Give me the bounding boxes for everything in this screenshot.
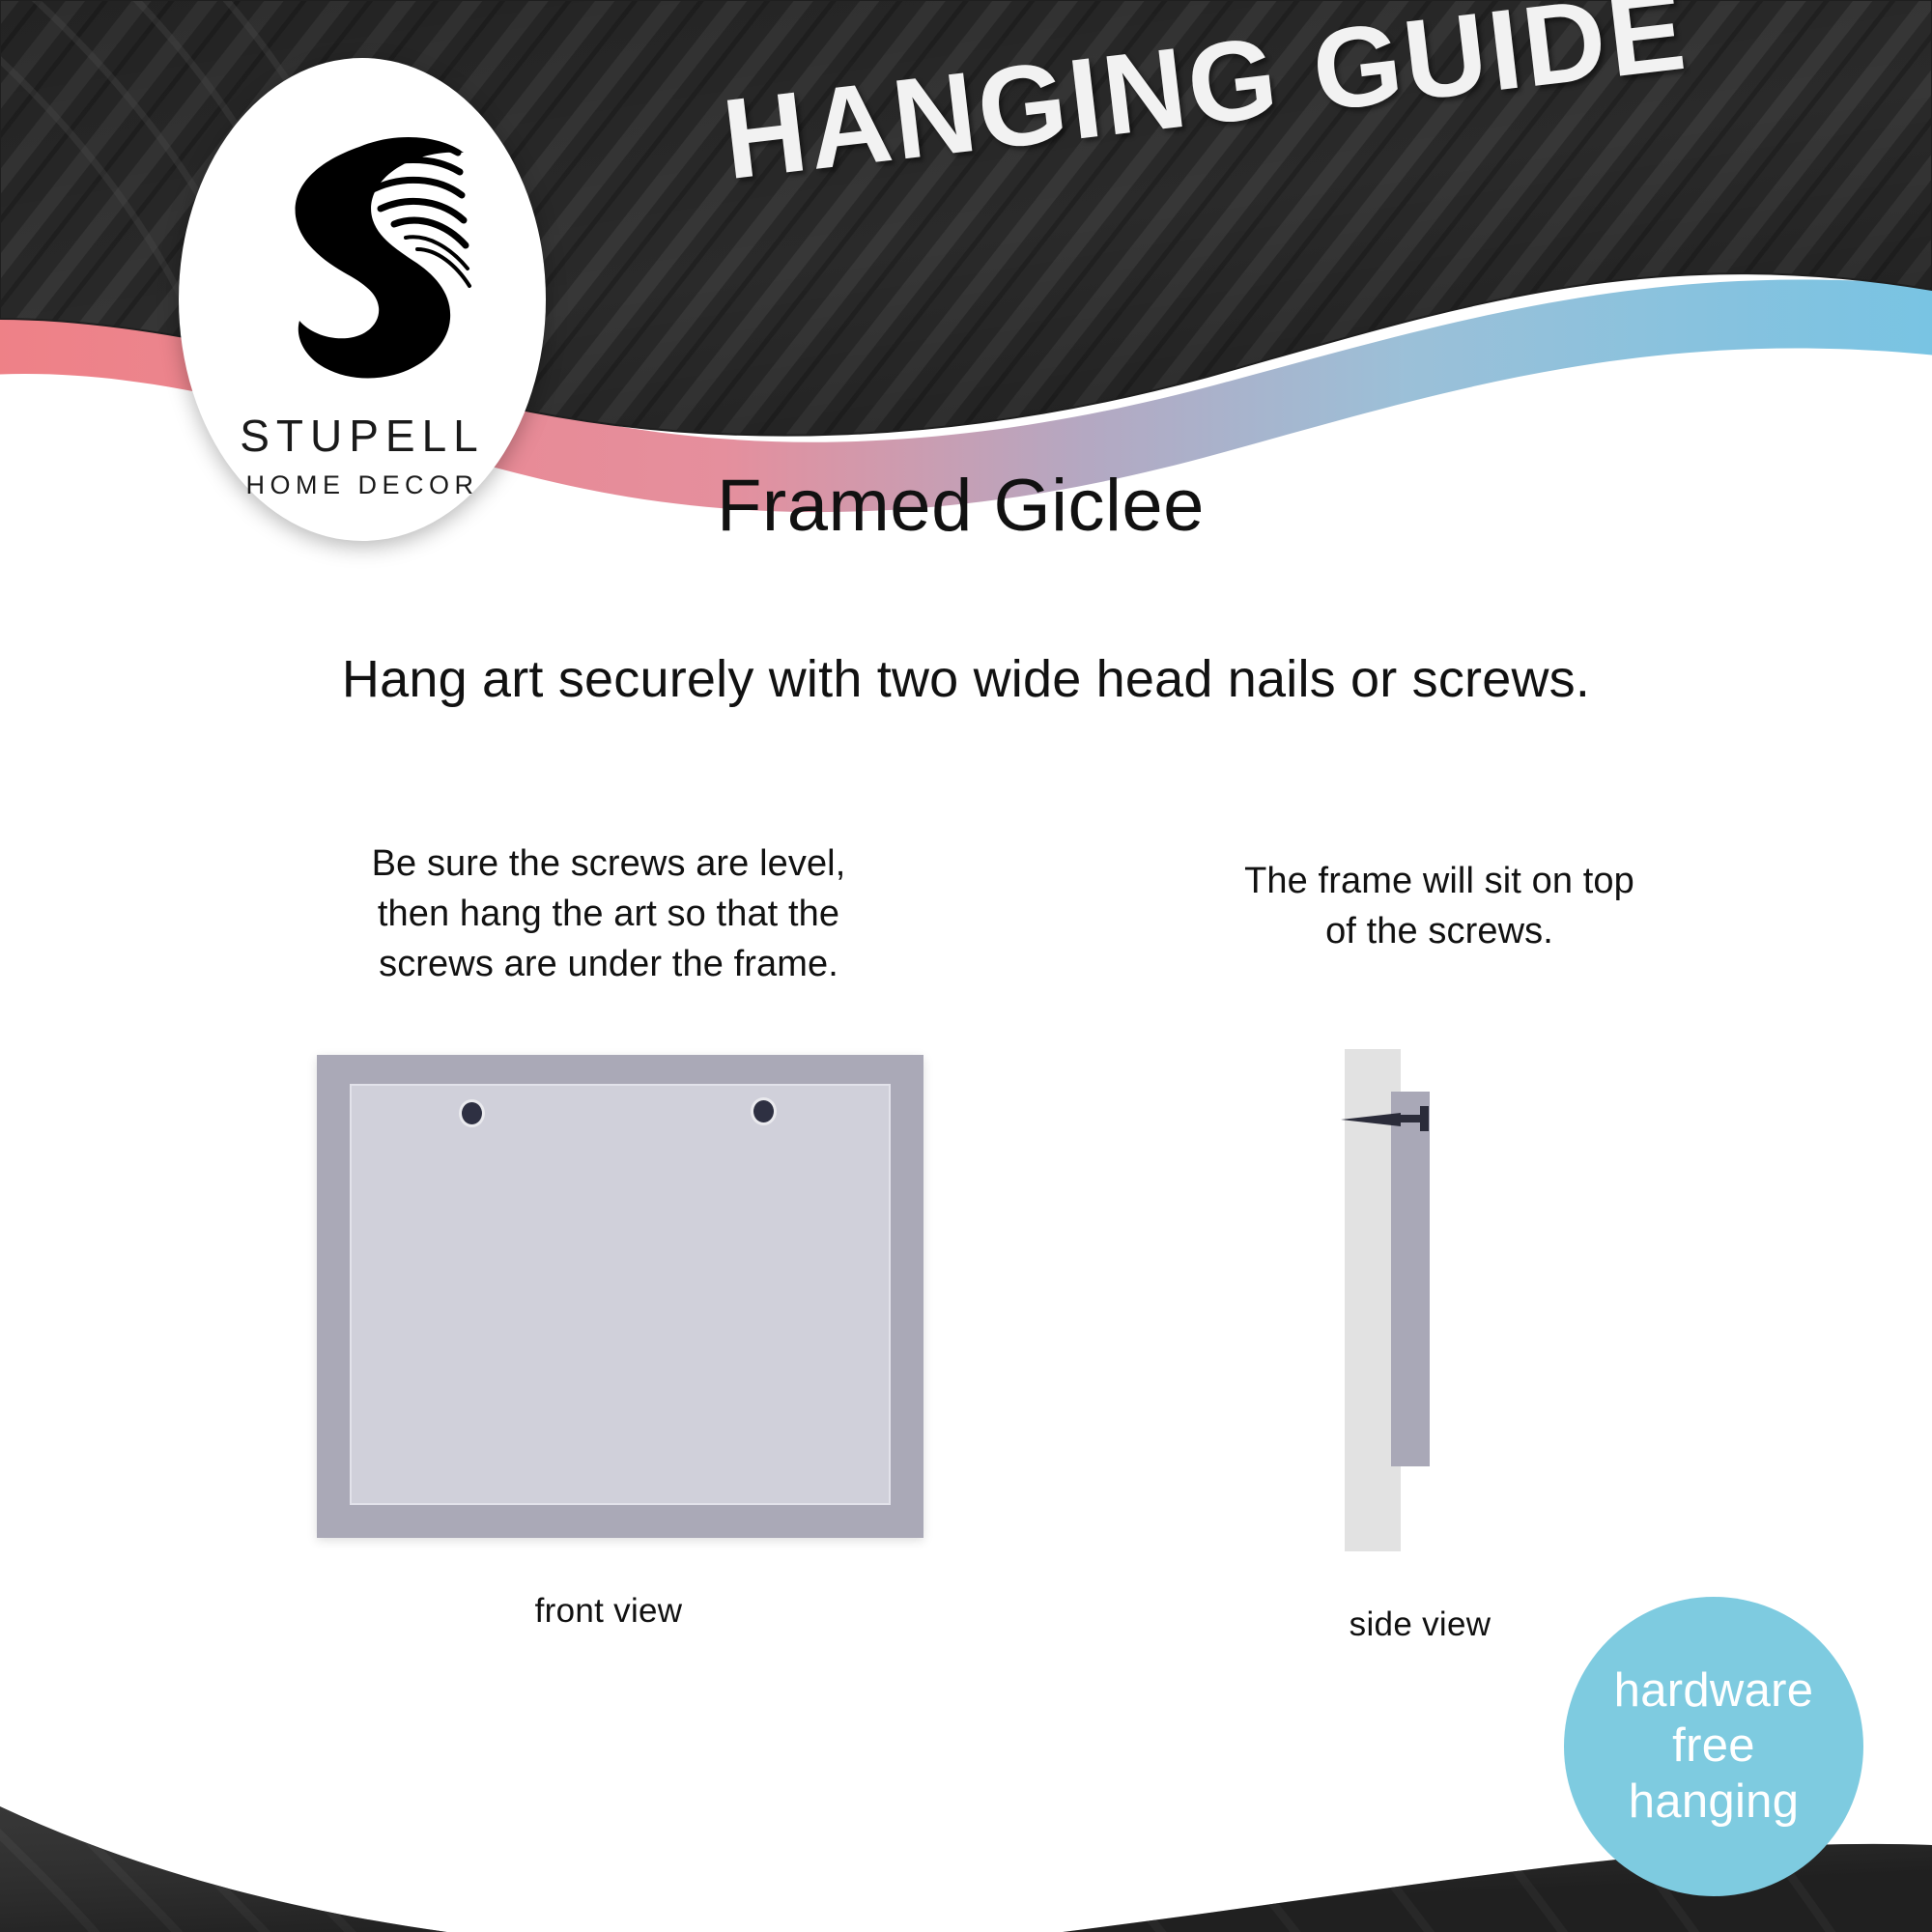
- screw-dot-right: [753, 1100, 774, 1122]
- brand-name: STUPELL: [240, 410, 485, 462]
- front-view-caption: Be sure the screws are level, then hang …: [251, 838, 966, 989]
- side-view-caption: The frame will sit on top of the screws.: [1082, 856, 1797, 956]
- side-view-frame: [1391, 1092, 1430, 1466]
- side-caption-line-1: The frame will sit on top: [1082, 856, 1797, 906]
- front-caption-line-1: Be sure the screws are level,: [251, 838, 966, 889]
- front-view-label: front view: [406, 1592, 811, 1631]
- brand-subtitle: HOME DECOR: [245, 470, 478, 500]
- side-view-column: The frame will sit on top of the screws.: [1082, 856, 1797, 956]
- screw-dot-left: [462, 1102, 482, 1124]
- brand-badge: STUPELL HOME DECOR: [179, 58, 546, 541]
- nail-icon: [1339, 1099, 1455, 1140]
- badge-line-3: hanging: [1614, 1775, 1814, 1830]
- frame-mat: [350, 1084, 891, 1505]
- badge-text: hardware free hanging: [1614, 1663, 1814, 1830]
- side-caption-line-2: of the screws.: [1082, 906, 1797, 956]
- side-view-diagram: [1345, 1049, 1538, 1551]
- hardware-free-hanging-badge: hardware free hanging: [1564, 1597, 1863, 1896]
- badge-line-2: free: [1614, 1719, 1814, 1774]
- side-view-label: side view: [1217, 1605, 1623, 1644]
- front-caption-line-2: then hang the art so that the: [251, 889, 966, 939]
- lead-instruction: Hang art securely with two wide head nai…: [0, 649, 1932, 709]
- hanging-guide-page: STUPELL HOME DECOR HANGING GUIDE Framed …: [0, 0, 1932, 1932]
- front-view-frame-diagram: [317, 1055, 923, 1538]
- product-type: Framed Giclee: [717, 464, 1205, 548]
- front-caption-line-3: screws are under the frame.: [251, 939, 966, 989]
- stupell-swoosh-logo-icon: [251, 114, 473, 404]
- badge-line-1: hardware: [1614, 1663, 1814, 1719]
- front-view-column: Be sure the screws are level, then hang …: [251, 838, 966, 989]
